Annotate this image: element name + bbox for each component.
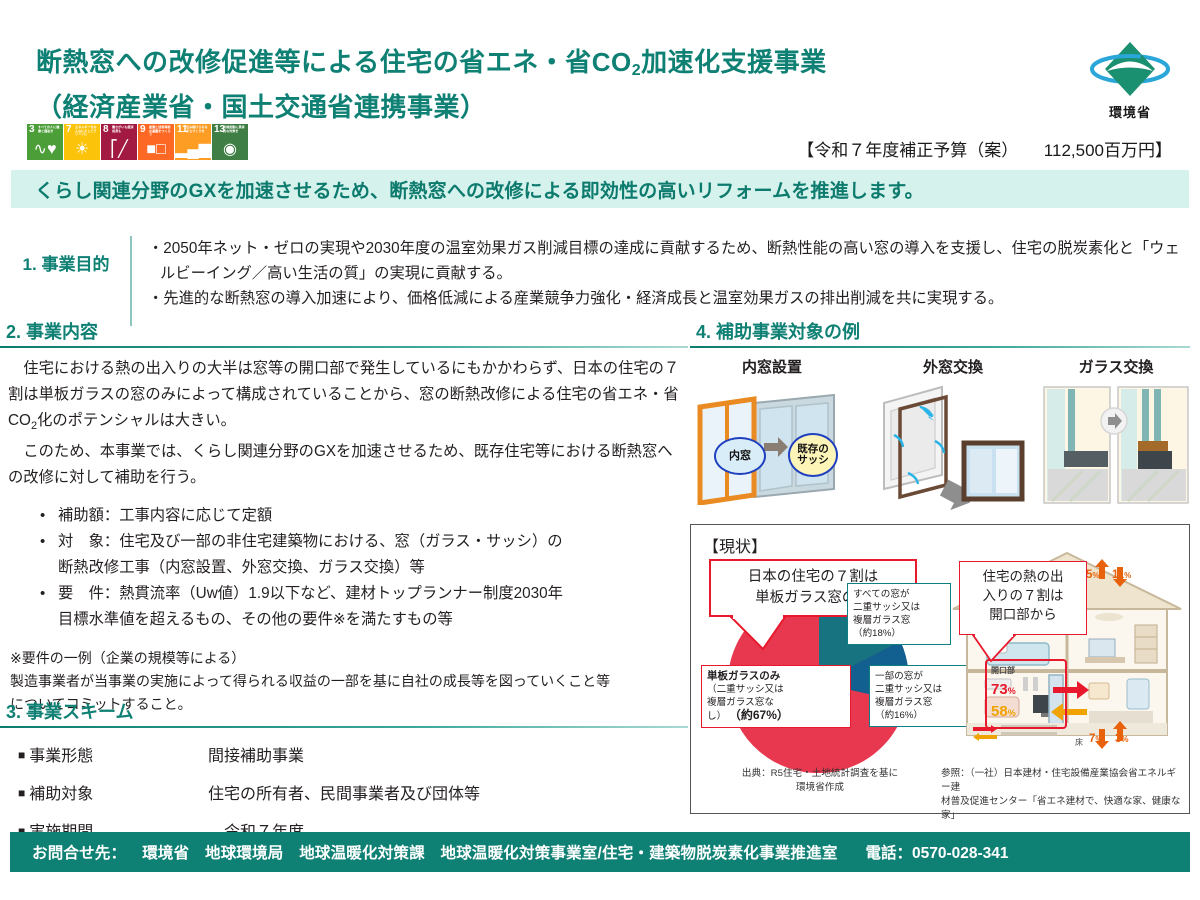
sdg-icon-9: 9 産業と技術革新の基盤をつくろう ■□ [138,124,174,160]
scheme-key: 事業形態 [18,738,208,776]
content-bullet-list: 補助額：工事内容に応じて定額 対 象：住宅及び一部の非住宅建築物における、窓（ガ… [0,503,688,633]
sdg-icon-3: 3 すべての人に健康と福祉を ∿♥ [27,124,63,160]
callout-pie-tail [729,615,799,653]
pie-source-line2: 環境省作成 [796,782,844,793]
pie-label-pct: （約67%） [729,708,789,722]
house-roof-out: 5% [1086,569,1100,581]
pie-label-single-glass: 単板ガラスのみ （二重サッシ又は複層ガラス窓なし） （約67%） [701,665,851,728]
section-purpose-body: ・2050年ネット・ゼロの実現や2030年度の温室効果ガス削減目標の達成に貢献す… [148,236,1188,311]
pie-source-line1: 出典：R5住宅・土地統計調査を基に [742,768,898,779]
section-scheme-heading: 3. 事業スキーム [0,698,688,724]
content-paragraph-2: このため、本事業では、くらし関連分野のGXを加速させるため、既存住宅等における断… [0,439,688,491]
house-source-line1: 参照：（一社）日本建材・住宅設備産業協会省エネルギー建 [941,768,1176,793]
scheme-value: 住宅の所有者、民間事業者及び団体等 [208,776,688,814]
right-column: 4. 補助事業対象の例 内窓設置 [690,318,1190,541]
left-column: 2. 事業内容 住宅における熱の出入りの大半は窓等の開口部で発生しているにもかか… [0,318,688,716]
house-source-line2: 材普及促進センター「省エネ建材で、快適な家、健康な家」 [941,796,1180,821]
ministry-logo-mark [1087,38,1173,100]
sdg-number: 8 [103,125,109,135]
budget-amount: 【令和７年度補正予算（案） 112,500百万円】 [797,136,1172,161]
scheme-row: 事業形態 間接補助事業 [18,738,688,776]
window-examples: 内窓設置 内窓 [690,356,1190,541]
current-status-panel: 【現状】 日本の住宅の７割は 単板ガラス窓のみ 単板ガラスのみ （二重サッシ又は… [690,524,1190,814]
sdg-glyph-growth-chart-icon: ⎡╱ [101,142,137,158]
pct-sign: % [1092,571,1099,580]
sdg-label: 働きがいも経済成長も [112,126,135,133]
bullet-line-1: 対 象：住宅及び一部の非住宅建築物における、窓（ガラス・サッシ）の [58,533,563,550]
callout-house-line2: 入りの７割は [983,588,1064,603]
house-floor-in: 3% [1115,733,1129,745]
callout-house-line3: 開口部から [989,607,1057,622]
sdg-number: 7 [66,125,72,135]
example-title: 外窓交換 [878,356,1028,377]
status-panel-title: 【現状】 [703,533,767,557]
sdg-label: 産業と技術革新の基盤をつくろう [149,126,172,137]
title-text-b: 加速化支援事業 [641,47,827,77]
example-glass-replacement: ガラス交換 [1042,356,1190,512]
paragraph-2-text: このため、本事業では、くらし関連分野のGXを加速させるため、既存住宅等における断… [8,439,680,491]
badge-inner-label: 内窓 [729,451,751,462]
bullet-target: 対 象：住宅及び一部の非住宅建築物における、窓（ガラス・サッシ）の 断熱改修工事… [36,529,688,581]
title-text-a: 断熱窓への改修促進等による住宅の省エネ・省CO [36,47,632,77]
pct-sign: % [1095,735,1102,744]
sdg-label: すべての人に健康と福祉を [38,126,61,133]
highlight-banner: くらし関連分野のGXを加速させるため、断熱窓への改修による即効性の高いリフォーム… [11,170,1189,208]
section-content-rule [0,346,688,348]
sdg-number: 9 [140,125,146,135]
pie-label-all-double-text: すべての窓が二重サッシ又は複層ガラス窓（約18%） [853,589,920,639]
sdg-glyph-city-icon: ▂▄▆ [175,142,211,158]
title-line-2: （経済産業省・国土交通省連携事業） [36,87,1076,127]
purpose-item: ・2050年ネット・ゼロの実現や2030年度の温室効果ガス削減目標の達成に貢献す… [148,236,1188,286]
footer-contact-label: お問合せ先： [10,841,126,863]
sdg-icon-row: 3 すべての人に健康と福祉を ∿♥ 7 エネルギーをみんなにそしてクリーンに ☀… [27,124,248,160]
sdg-icon-8: 8 働きがいも経済成長も ⎡╱ [101,124,137,160]
sdg-label: 住み続けられるまちづくりを [186,126,209,133]
ministry-logo: 環境省 [1082,38,1178,121]
sdg-glyph-heartbeat-icon: ∿♥ [27,142,63,158]
section-divider [130,236,132,326]
content-paragraph-1: 住宅における熱の出入りの大半は窓等の開口部で発生しているにもかかわらず、日本の住… [0,356,688,439]
pie-label-partial-double-text: 一部の窓が二重サッシ又は複層ガラス窓（約16%） [875,671,942,721]
section-examples-heading: 4. 補助事業対象の例 [690,318,1190,344]
example-inner-window: 内窓設置 内窓 [692,356,852,510]
bullet-subsidy-amount: 補助額：工事内容に応じて定額 [36,503,688,529]
banner-text: くらし関連分野のGXを加速させるため、断熱窓への改修による即効性の高いリフォーム… [11,176,924,203]
section-purpose-label: 1. 事業目的 [8,250,124,275]
bullet-requirements: 要 件：熱貫流率（Uw値）1.9以下など、建材トップランナー制度2030年 目標… [36,581,688,633]
outer-window-illustration [878,385,1028,520]
ministry-logo-label: 環境省 [1082,102,1178,121]
pie-source: 出典：R5住宅・土地統計調査を基に 環境省作成 [705,767,935,795]
scheme-row: 補助対象 住宅の所有者、民間事業者及び団体等 [18,776,688,814]
pct-sign: % [1121,735,1128,744]
bullet-line-2: 断熱改修工事（内窓設置、外窓交換、ガラス交換）等 [58,555,688,581]
sdg-glyph-sun-icon: ☀ [64,142,100,158]
badge-inner-window: 内窓 [714,437,766,475]
paragraph-1-text: 住宅における熱の出入りの大半は窓等の開口部で発生しているにもかかわらず、日本の住… [8,356,680,439]
house-source: 参照：（一社）日本建材・住宅設備産業協会省エネルギー建 材普及促進センター「省エ… [941,767,1185,823]
purpose-item: ・先進的な断熱窓の導入加速により、価格低減による産業競争力強化・経済成長と温室効… [148,286,1188,311]
house-floor-label: 床 [1075,737,1083,748]
house-roof-in: 11% [1112,569,1131,581]
opening-highlight-box [985,659,1067,729]
footnote-line-2: 製造事業者が当事業の実施によって得られる収益の一部を基に自社の成長等を図っていく… [10,670,688,693]
house-floor-out: 7% [1089,733,1103,745]
sdg-glyph-globe-eye-icon: ◉ [212,142,248,158]
paragraph-1b: 化のポテンシャルは大きい。 [37,412,236,429]
callout-house: 住宅の熱の出 入りの７割は 開口部から [959,561,1087,635]
sdg-icon-7: 7 エネルギーをみんなにそしてクリーンに ☀ [64,124,100,160]
bullet-line-1: 補助額：工事内容に応じて定額 [58,507,272,524]
section-scheme: 3. 事業スキーム 事業形態 間接補助事業 補助対象 住宅の所有者、民間事業者及… [0,698,688,852]
glass-replacement-icon [1042,385,1190,507]
badge-existing-sash: 既存のサッシ [788,433,838,477]
badge-existing-label: 既存のサッシ [797,444,829,466]
sdg-number: 3 [29,125,35,135]
section-scheme-rule [0,726,688,728]
footer-org: 環境省 地球環境局 地球温暖化対策課 地球温暖化対策事業室/住宅・建築物脱炭素化… [126,841,837,863]
sdg-label: 気候変動に具体的な対策を [223,126,246,133]
example-title: ガラス交換 [1042,356,1190,377]
scheme-key: 補助対象 [18,776,208,814]
sdg-icon-13: 13 気候変動に具体的な対策を ◉ [212,124,248,160]
section-content-heading: 2. 事業内容 [0,318,688,344]
header: 断熱窓への改修促進等による住宅の省エネ・省CO2加速化支援事業 （経済産業省・国… [0,0,1200,168]
sdg-icon-11: 11 住み続けられるまちづくりを ▂▄▆ [175,124,211,160]
outer-window-icon [878,385,1028,515]
example-outer-window: 外窓交換 [878,356,1028,520]
example-title: 内窓設置 [692,356,852,377]
title-subscript: 2 [632,62,641,79]
page-title: 断熱窓への改修促進等による住宅の省エネ・省CO2加速化支援事業 （経済産業省・国… [36,42,1076,127]
poster-page: 断熱窓への改修促進等による住宅の省エネ・省CO2加速化支援事業 （経済産業省・国… [0,0,1200,900]
inner-window-illustration: 内窓 既存のサッシ [692,385,852,510]
glass-replacement-illustration [1042,385,1190,512]
footer-phone: 電話：0570-028-341 [866,841,1009,863]
bullet-line-2: 目標水準値を超えるもの、その他の要件※を満たすもの等 [58,607,688,633]
sdg-glyph-cubes-icon: ■□ [138,142,174,158]
moe-emblem-icon [1087,38,1173,100]
title-line-1: 断熱窓への改修促進等による住宅の省エネ・省CO2加速化支援事業 [36,42,1076,87]
scheme-value: 間接補助事業 [208,738,688,776]
pct-sign: % [1124,571,1131,580]
pie-label-title: 単板ガラスのみ [707,670,780,682]
pie-label-all-double: すべての窓が二重サッシ又は複層ガラス窓（約18%） [847,583,951,645]
section-examples-rule [690,346,1190,348]
sdg-label: エネルギーをみんなにそしてクリーンに [75,126,98,137]
section-purpose: 1. 事業目的 ・2050年ネット・ゼロの実現や2030年度の温室効果ガス削減目… [0,236,1200,322]
bullet-line-1: 要 件：熱貫流率（Uw値）1.9以下など、建材トップランナー制度2030年 [58,585,563,602]
footer-contact-bar: お問合せ先： 環境省 地球環境局 地球温暖化対策課 地球温暖化対策事業室/住宅・… [10,832,1190,872]
callout-house-tail [971,633,1027,665]
footnote-line-1: ※要件の一例（企業の規模等による） [10,647,688,670]
callout-house-line1: 住宅の熱の出 [983,569,1064,584]
